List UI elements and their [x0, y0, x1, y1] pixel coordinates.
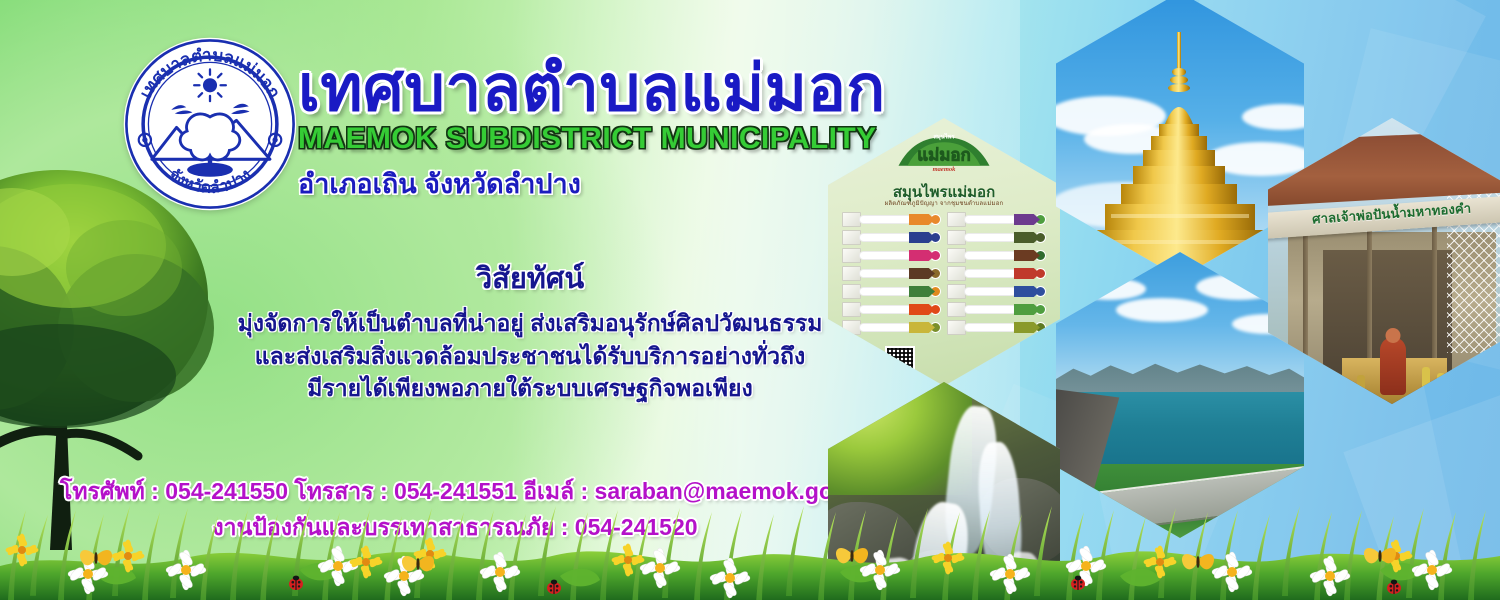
herbal-product-item [842, 248, 941, 263]
page-title-english: MAEMOK SUBDISTRICT MUNICIPALITY [298, 122, 958, 156]
herbal-logo-top-text: สมุนไพร [933, 132, 955, 140]
herbal-logo-text: แม่มอก [917, 146, 971, 165]
herbal-product-item [842, 284, 941, 299]
herbal-product-item [947, 284, 1046, 299]
herbal-product-item [947, 230, 1046, 245]
herbal-product-item [947, 248, 1046, 263]
herbal-product-grid [842, 212, 1046, 335]
herbal-product-item [842, 266, 941, 281]
municipality-seal: เทศบาลตำบลแม่มอก จังหวัดลำปาง [122, 36, 298, 212]
herbal-product-item [947, 302, 1046, 317]
grass-flowers-border [0, 504, 1500, 600]
herbal-product-item [842, 230, 941, 245]
herbal-logo-sub-text: maemok [933, 166, 956, 173]
herbal-product-item [842, 212, 941, 227]
vision-heading: วิสัยทัศน์ [200, 255, 860, 301]
cloud [1116, 298, 1208, 322]
herbal-product-item [947, 320, 1046, 335]
vision-block: วิสัยทัศน์ มุ่งจัดการให้เป็นตำบลที่น่าอย… [200, 255, 860, 405]
herbal-product-item [842, 320, 941, 335]
herbal-product-item [842, 302, 941, 317]
herbal-product-item [947, 212, 1046, 227]
herbal-poster-subcaption: ผลิตภัณฑ์ภูมิปัญญา จากชุมชนตำบลแม่มอก [828, 198, 1060, 208]
municipality-banner: เทศบาลตำบลแม่มอก จังหวัดลำปาง เทศบาลตำบล… [0, 0, 1500, 600]
vision-line-3: มีรายได้เพียงพอภายใต้ระบบเศรษฐกิจพอเพียง [200, 372, 860, 405]
vision-line-2: และส่งเสริมสิ่งแวดล้อมประชาชนได้รับบริกา… [200, 340, 860, 373]
vision-line-1: มุ่งจัดการให้เป็นตำบลที่น่าอยู่ ส่งเสริม… [200, 307, 860, 340]
herbal-product-item [947, 266, 1046, 281]
page-title-thai: เทศบาลตำบลแม่มอก [298, 56, 958, 120]
shrine-statue [1380, 337, 1406, 395]
